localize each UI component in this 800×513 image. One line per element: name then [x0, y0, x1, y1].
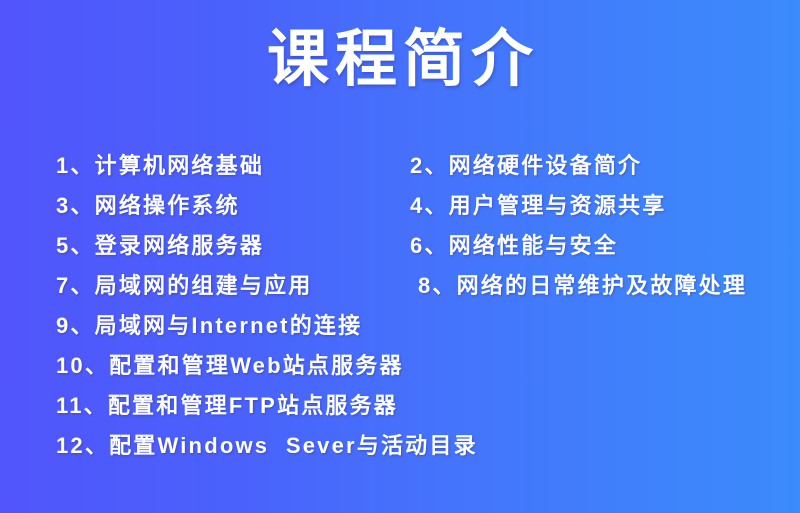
course-list: 1、计算机网络基础 2、网络硬件设备简介 3、网络操作系统 4、用户管理与资源共… [0, 150, 800, 470]
slide-canvas: 课程简介 1、计算机网络基础 2、网络硬件设备简介 3、网络操作系统 4、用户管… [0, 0, 800, 513]
course-item-9: 9、局域网与Internet的连接 [56, 310, 362, 350]
course-item-10: 10、配置和管理Web站点服务器 [56, 350, 404, 390]
course-item-1: 1、计算机网络基础 [56, 150, 264, 190]
course-row: 7、局域网的组建与应用 8、网络的日常维护及故障处理 [0, 270, 800, 310]
course-item-8: 8、网络的日常维护及故障处理 [418, 270, 747, 310]
course-item-12: 12、配置Windows Sever与活动目录 [56, 430, 478, 470]
page-title: 课程简介 [0, 22, 800, 98]
course-item-7: 7、局域网的组建与应用 [56, 270, 312, 310]
course-row: 12、配置Windows Sever与活动目录 [0, 430, 800, 470]
course-row: 10、配置和管理Web站点服务器 [0, 350, 800, 390]
course-item-11: 11、配置和管理FTP站点服务器 [56, 390, 398, 430]
course-row: 9、局域网与Internet的连接 [0, 310, 800, 350]
course-item-2: 2、网络硬件设备简介 [410, 150, 642, 190]
course-row: 5、登录网络服务器 6、网络性能与安全 [0, 230, 800, 270]
course-item-4: 4、用户管理与资源共享 [410, 190, 666, 230]
course-row: 1、计算机网络基础 2、网络硬件设备简介 [0, 150, 800, 190]
course-item-5: 5、登录网络服务器 [56, 230, 264, 270]
course-item-6: 6、网络性能与安全 [410, 230, 618, 270]
course-row: 3、网络操作系统 4、用户管理与资源共享 [0, 190, 800, 230]
course-row: 11、配置和管理FTP站点服务器 [0, 390, 800, 430]
course-item-3: 3、网络操作系统 [56, 190, 240, 230]
